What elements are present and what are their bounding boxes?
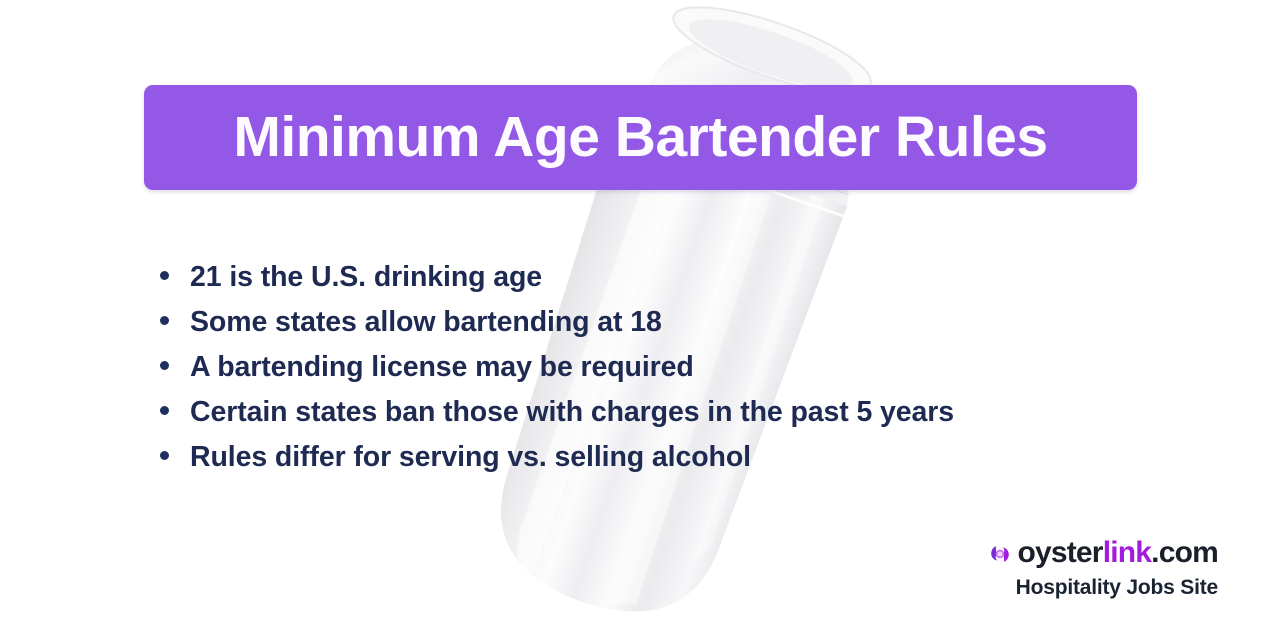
logo-segment-oyster: oyster [1017,536,1102,569]
page-title: Minimum Age Bartender Rules [233,109,1047,166]
list-item-label: A bartending license may be required [190,353,694,382]
list-item-label: Rules differ for serving vs. selling alc… [190,443,751,472]
list-item: Certain states ban those with charges in… [160,398,1160,443]
list-item-label: Certain states ban those with charges in… [190,398,954,427]
bullet-dot-icon [160,361,169,370]
list-item-label: Some states allow bartending at 18 [190,308,662,337]
logo-segment-link: link [1103,536,1151,569]
bullet-dot-icon [160,406,169,415]
oyster-pearl-icon [988,542,1012,566]
list-item: A bartending license may be required [160,353,1160,398]
bullet-dot-icon [160,271,169,280]
bullet-dot-icon [160,451,169,460]
list-item: 21 is the U.S. drinking age [160,263,1160,308]
logo-segment-com: .com [1151,536,1218,569]
list-item: Some states allow bartending at 18 [160,308,1160,353]
title-banner: Minimum Age Bartender Rules [144,85,1137,190]
bullet-dot-icon [160,316,169,325]
logo-wordmark-row: oysterlink.com [988,538,1218,568]
rules-list: 21 is the U.S. drinking age Some states … [160,263,1160,488]
logo-tagline: Hospitality Jobs Site [988,577,1218,598]
list-item: Rules differ for serving vs. selling alc… [160,443,1160,488]
list-item-label: 21 is the U.S. drinking age [190,263,542,292]
brand-logo[interactable]: oysterlink.com Hospitality Jobs Site [988,538,1218,598]
infographic-canvas: Minimum Age Bartender Rules 21 is the U.… [0,0,1280,640]
logo-wordmark: oysterlink.com [1017,538,1218,568]
